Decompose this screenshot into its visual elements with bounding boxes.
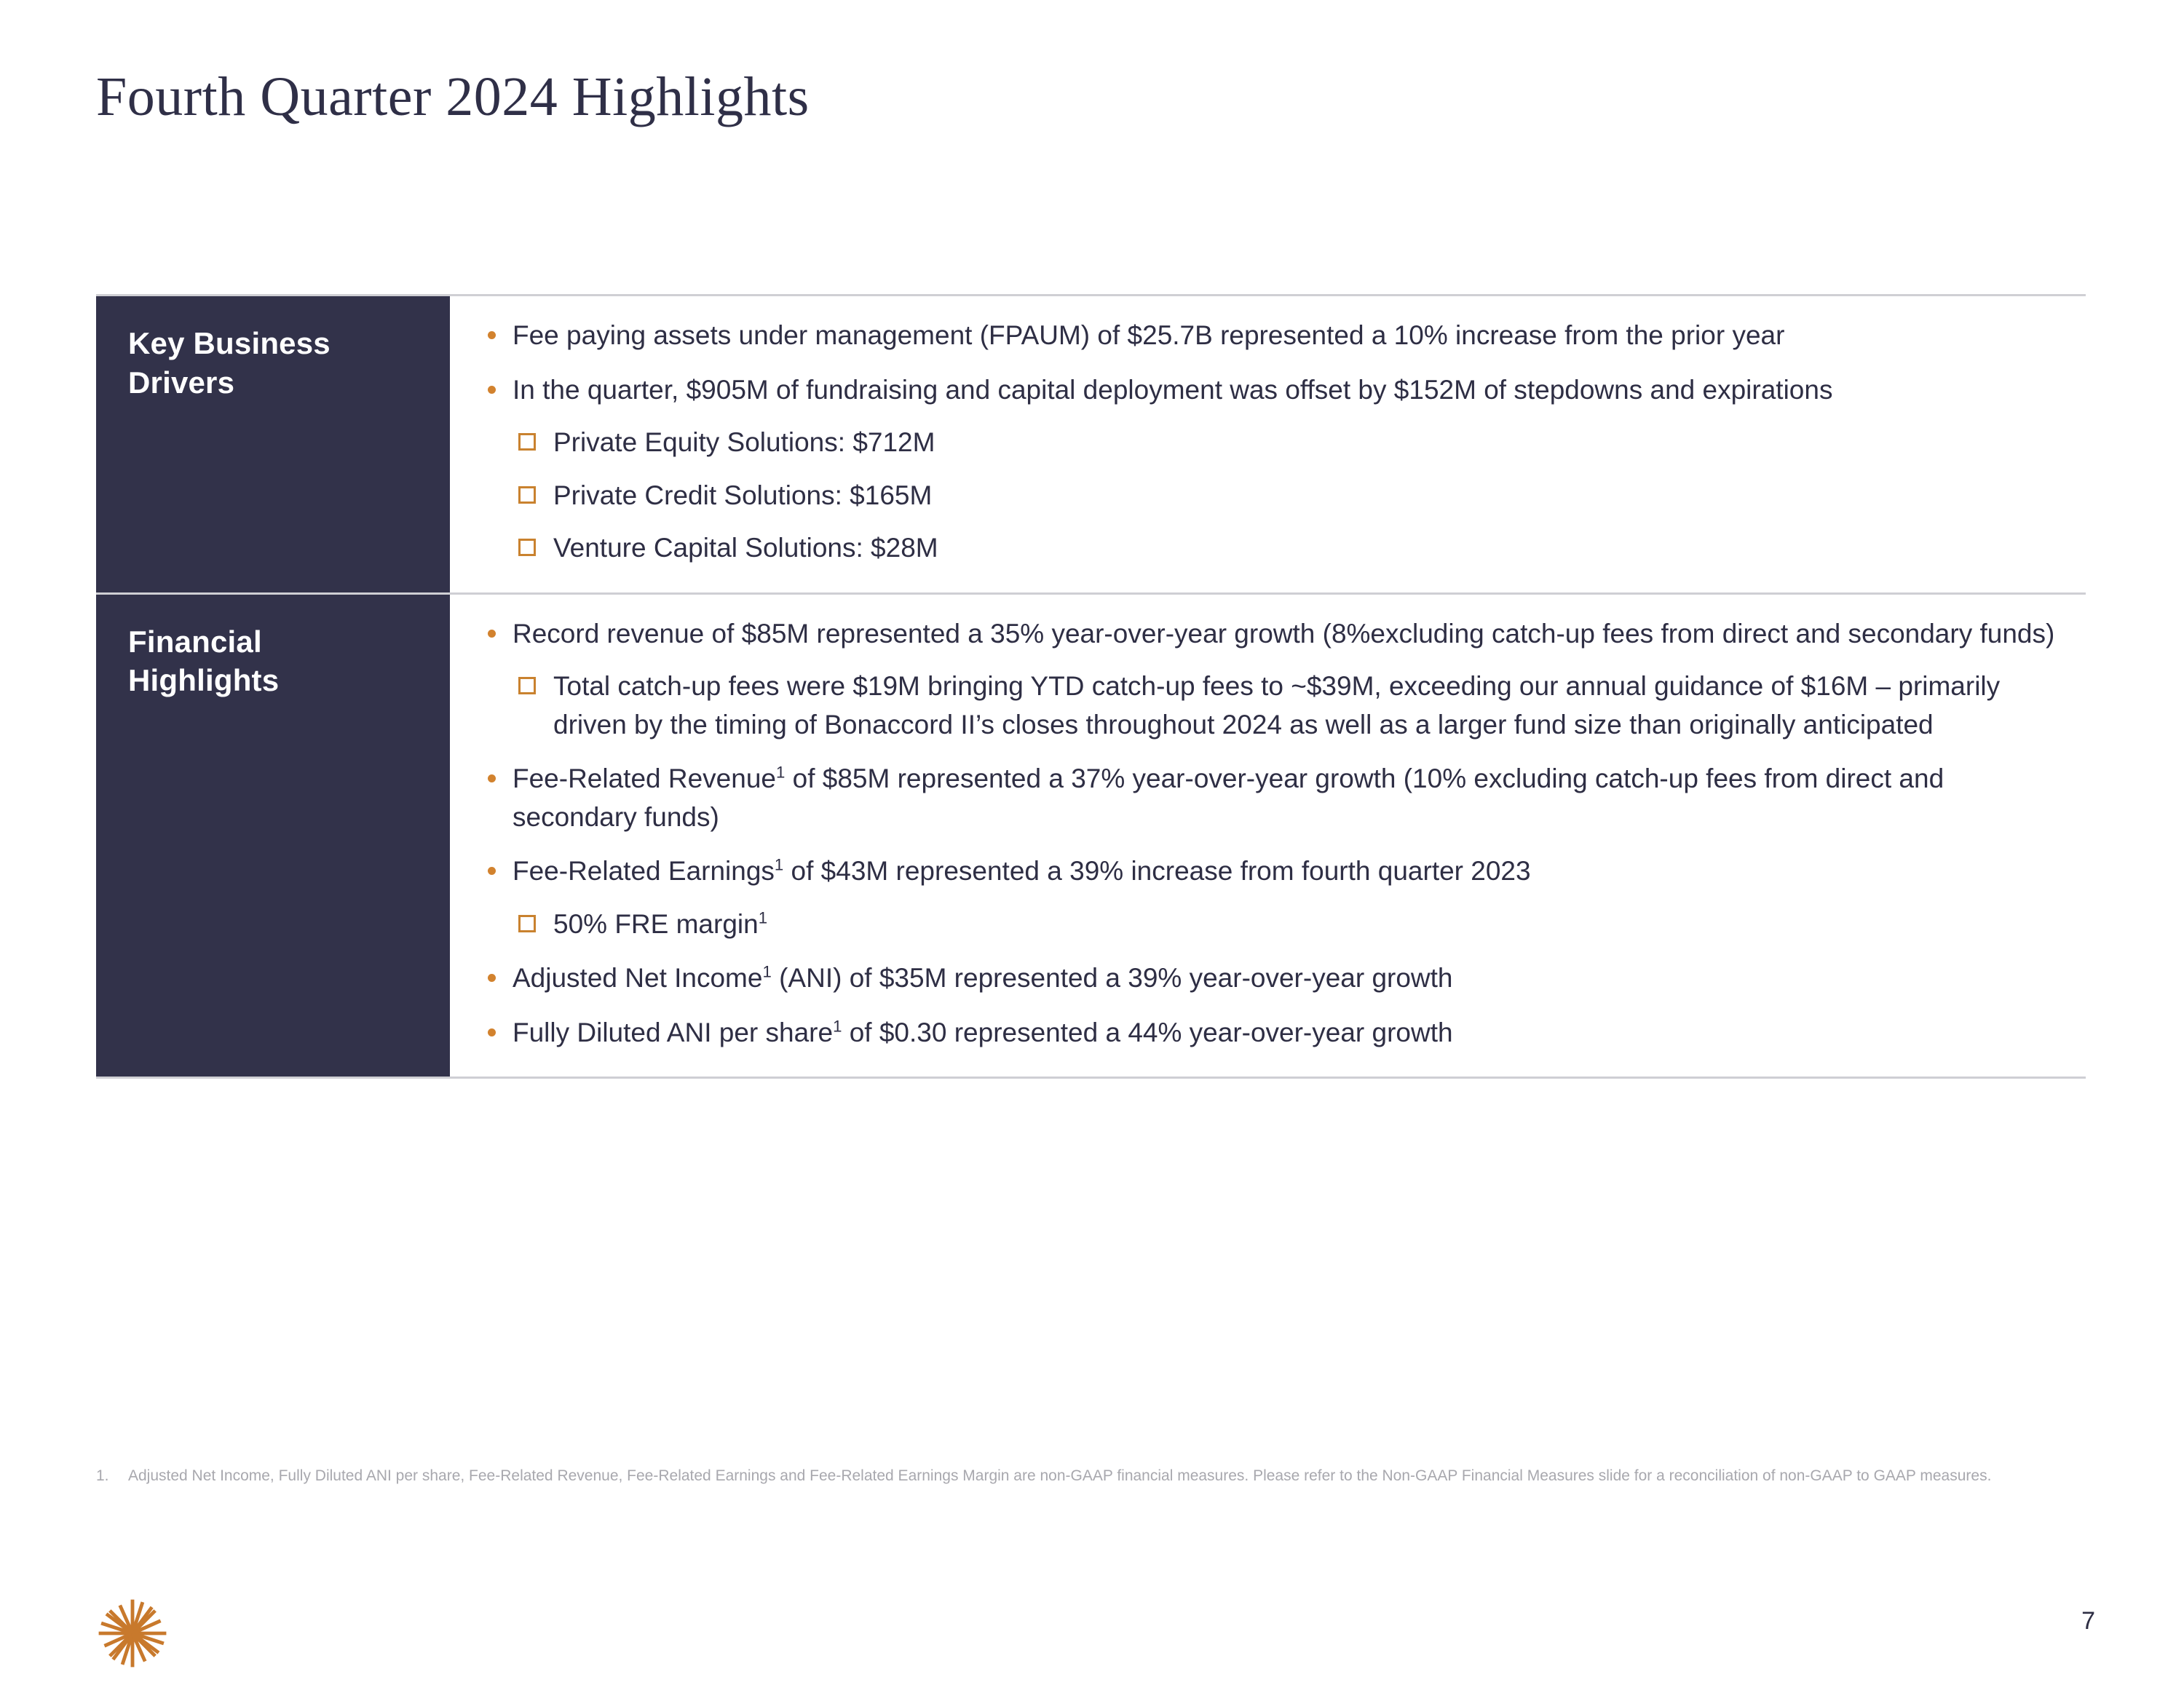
bullet-square-icon [518, 915, 536, 932]
list-item: Total catch-up fees were $19M bringing Y… [513, 667, 2057, 744]
list-item: 50% FRE margin1 [513, 905, 2057, 944]
list-item-text: Private Credit Solutions: $165M [553, 480, 932, 510]
company-pinwheel-logo [90, 1591, 175, 1676]
row-label-financial-highlights: Financial Highlights [96, 595, 450, 1077]
bullet-square-icon [518, 433, 536, 451]
list-item: Venture Capital Solutions: $28M [513, 529, 2057, 568]
list-item-text: Fee paying assets under management (FPAU… [513, 320, 1784, 350]
list-item: Fee-Related Earnings1 of $43M represente… [482, 852, 2057, 943]
list-item-text: Private Equity Solutions: $712M [553, 427, 935, 457]
bullet-dot-icon [488, 386, 496, 394]
sub-bullet-list: 50% FRE margin1 [513, 905, 2057, 944]
table-row: Key Business Drivers Fee paying assets u… [96, 296, 2086, 592]
list-item-text: Total catch-up fees were $19M bringing Y… [553, 671, 2000, 740]
bullet-dot-icon [488, 1028, 496, 1036]
list-item-text-pre: Fee-Related Revenue [513, 764, 776, 793]
row-label-line-2: Highlights [128, 661, 450, 700]
row-label-line-2: Drivers [128, 363, 450, 403]
row-label-line-1: Financial [128, 622, 450, 662]
list-item: Adjusted Net Income1 (ANI) of $35M repre… [482, 959, 2057, 998]
bullet-dot-icon [488, 974, 496, 982]
footnote-marker: 1 [762, 963, 771, 981]
footnote-marker: 1 [833, 1018, 842, 1036]
list-item-text: Record revenue of $85M represented a 35%… [513, 619, 2054, 649]
list-item: In the quarter, $905M of fundraising and… [482, 371, 2057, 568]
row-content-key-business-drivers: Fee paying assets under management (FPAU… [450, 296, 2086, 592]
highlights-table: Key Business Drivers Fee paying assets u… [96, 294, 2086, 1079]
footnote-number: 1. [96, 1464, 128, 1488]
list-item: Private Credit Solutions: $165M [513, 477, 2057, 515]
bullet-square-icon [518, 677, 536, 694]
list-item: Record revenue of $85M represented a 35%… [482, 615, 2057, 745]
list-item-text-pre: Adjusted Net Income [513, 963, 762, 993]
bullet-dot-icon [488, 630, 496, 638]
list-item: Fee paying assets under management (FPAU… [482, 317, 2057, 355]
bullet-dot-icon [488, 774, 496, 782]
bullet-square-icon [518, 486, 536, 504]
footnote-text: Adjusted Net Income, Fully Diluted ANI p… [128, 1464, 2091, 1488]
sub-bullet-list: Total catch-up fees were $19M bringing Y… [513, 667, 2057, 744]
list-item: Private Equity Solutions: $712M [513, 424, 2057, 462]
list-item: Fee-Related Revenue1 of $85M represented… [482, 760, 2057, 836]
bullet-square-icon [518, 539, 536, 556]
sub-bullet-list: Private Equity Solutions: $712M Private … [513, 424, 2057, 568]
list-item-text-post: of $43M represented a 39% increase from … [783, 856, 1530, 886]
list-item-text-pre: Fee-Related Earnings [513, 856, 775, 886]
list-item-text: In the quarter, $905M of fundraising and… [513, 375, 1832, 405]
list-item-text-pre: Fully Diluted ANI per share [513, 1018, 833, 1047]
page-number: 7 [2066, 1607, 2095, 1636]
row-content-financial-highlights: Record revenue of $85M represented a 35%… [450, 595, 2086, 1077]
footnote-marker: 1 [759, 909, 767, 927]
bullet-list: Record revenue of $85M represented a 35%… [482, 615, 2057, 1052]
list-item-text-post: (ANI) of $35M represented a 39% year-ove… [772, 963, 1453, 993]
list-item-text-pre: 50% FRE margin [553, 909, 759, 939]
row-label-line-1: Key Business [128, 324, 450, 363]
table-row: Financial Highlights Record revenue of $… [96, 592, 2086, 1077]
bullet-dot-icon [488, 867, 496, 875]
page-title: Fourth Quarter 2024 Highlights [96, 66, 810, 129]
bullet-dot-icon [488, 331, 496, 339]
list-item-text: Venture Capital Solutions: $28M [553, 533, 938, 563]
list-item: Fully Diluted ANI per share1 of $0.30 re… [482, 1014, 2057, 1052]
bullet-list: Fee paying assets under management (FPAU… [482, 317, 2057, 568]
footnote: 1. Adjusted Net Income, Fully Diluted AN… [96, 1464, 2091, 1488]
row-label-key-business-drivers: Key Business Drivers [96, 296, 450, 592]
footnote-marker: 1 [776, 764, 785, 782]
list-item-text-post: of $0.30 represented a 44% year-over-yea… [842, 1018, 1452, 1047]
footnote-marker: 1 [775, 856, 783, 874]
